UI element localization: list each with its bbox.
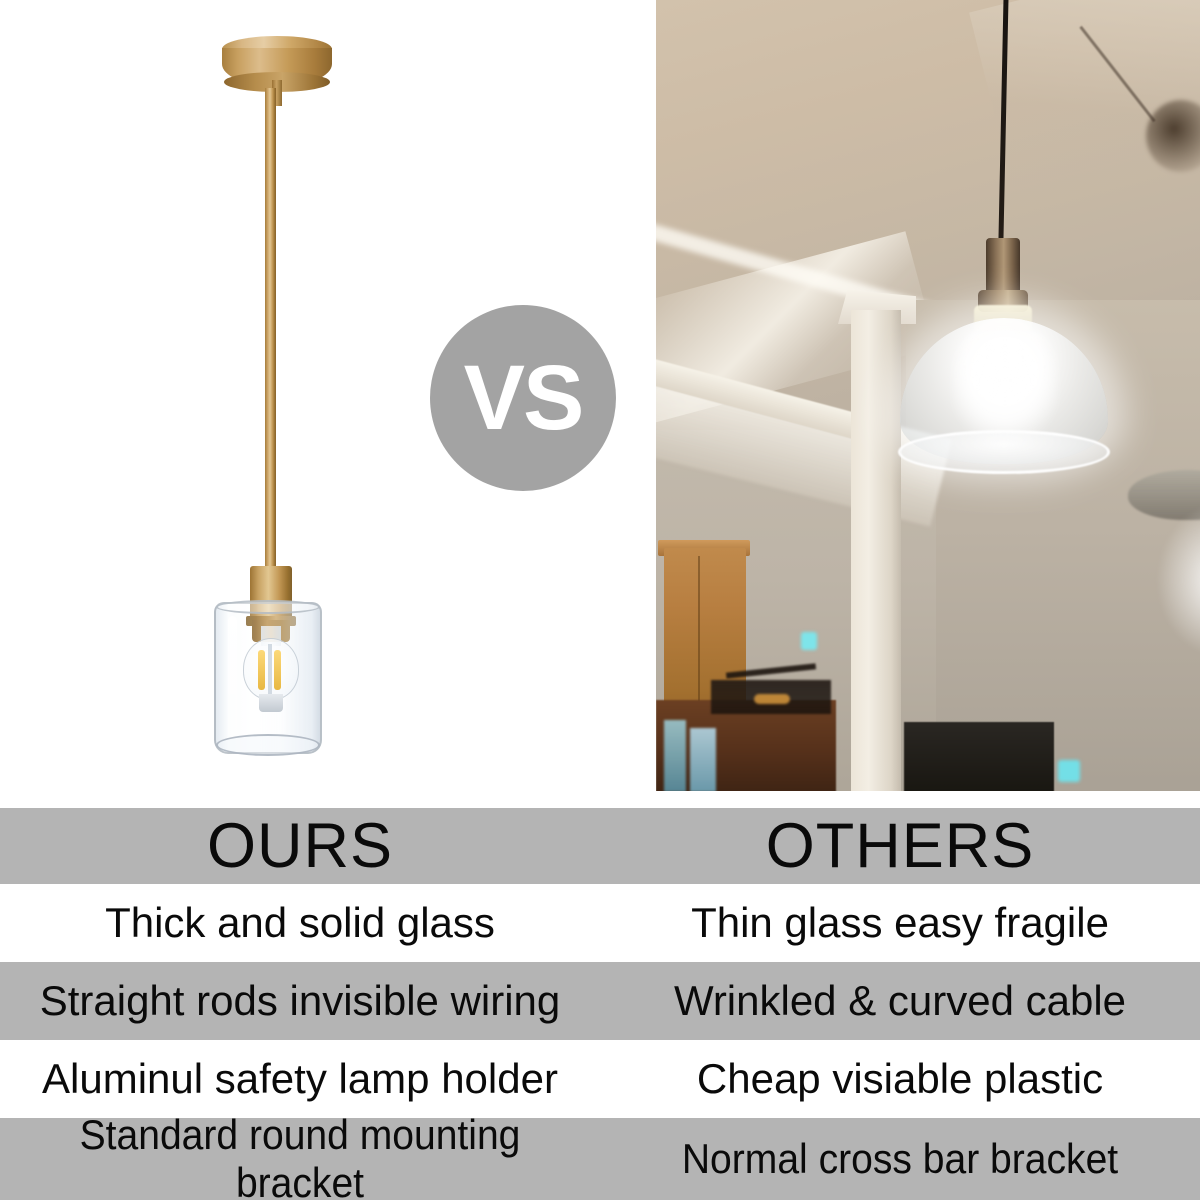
photo-socket-head bbox=[986, 238, 1020, 296]
cell-ours-4: Standard round mounting bracket bbox=[21, 1118, 579, 1200]
cell-ours-3: Aluminul safety lamp holder bbox=[0, 1040, 600, 1118]
filament-left bbox=[258, 650, 265, 690]
filament-right bbox=[274, 650, 281, 690]
cell-others-4: Normal cross bar bracket bbox=[621, 1118, 1179, 1200]
bulb-stem bbox=[268, 644, 272, 696]
photo-bulb-glare bbox=[952, 330, 1058, 442]
photo-water-bottle-b bbox=[690, 728, 716, 791]
glass-highlight bbox=[228, 616, 237, 738]
photo-tv-screen bbox=[904, 722, 1054, 791]
photo-water-bottle-a bbox=[664, 720, 686, 791]
bulb-base bbox=[259, 694, 283, 712]
vs-badge: VS bbox=[430, 305, 616, 491]
ceiling-canopy-icon bbox=[222, 36, 332, 98]
others-product-photo bbox=[656, 0, 1200, 791]
cell-others-2: Wrinkled & curved cable bbox=[600, 962, 1200, 1040]
table-header-row: OURS OTHERS bbox=[0, 808, 1200, 884]
photo-shade-rim bbox=[898, 430, 1110, 474]
table-row: Aluminul safety lamp holder Cheap visiab… bbox=[0, 1040, 1200, 1118]
table-row: Standard round mounting bracket Normal c… bbox=[0, 1118, 1200, 1200]
cell-others-3: Cheap visiable plastic bbox=[600, 1040, 1200, 1118]
table-row: Straight rods invisible wiring Wrinkled … bbox=[0, 962, 1200, 1040]
header-others: OTHERS bbox=[600, 808, 1200, 884]
photo-cyan-led-a bbox=[801, 632, 817, 650]
glass-bottom-rim bbox=[216, 734, 320, 756]
comparison-infographic: VS bbox=[0, 0, 1200, 1200]
table-row: Thick and solid glass Thin glass easy fr… bbox=[0, 884, 1200, 962]
cell-ours-1: Thick and solid glass bbox=[0, 884, 600, 962]
photo-cyan-led-b bbox=[1058, 760, 1080, 782]
photo-column bbox=[851, 310, 901, 791]
straight-brass-rod bbox=[265, 88, 276, 578]
cell-ours-2: Straight rods invisible wiring bbox=[0, 962, 600, 1040]
cell-others-1: Thin glass easy fragile bbox=[600, 884, 1200, 962]
comparison-table: OURS OTHERS Thick and solid glass Thin g… bbox=[0, 795, 1200, 1200]
header-ours: OURS bbox=[0, 808, 600, 884]
photo-amber-bottles bbox=[754, 694, 790, 704]
top-comparison-area: VS bbox=[0, 0, 1200, 795]
glass-top-rim bbox=[216, 600, 320, 614]
vs-badge-label: VS bbox=[464, 352, 583, 444]
photo-second-fixture-glow bbox=[1154, 500, 1200, 660]
